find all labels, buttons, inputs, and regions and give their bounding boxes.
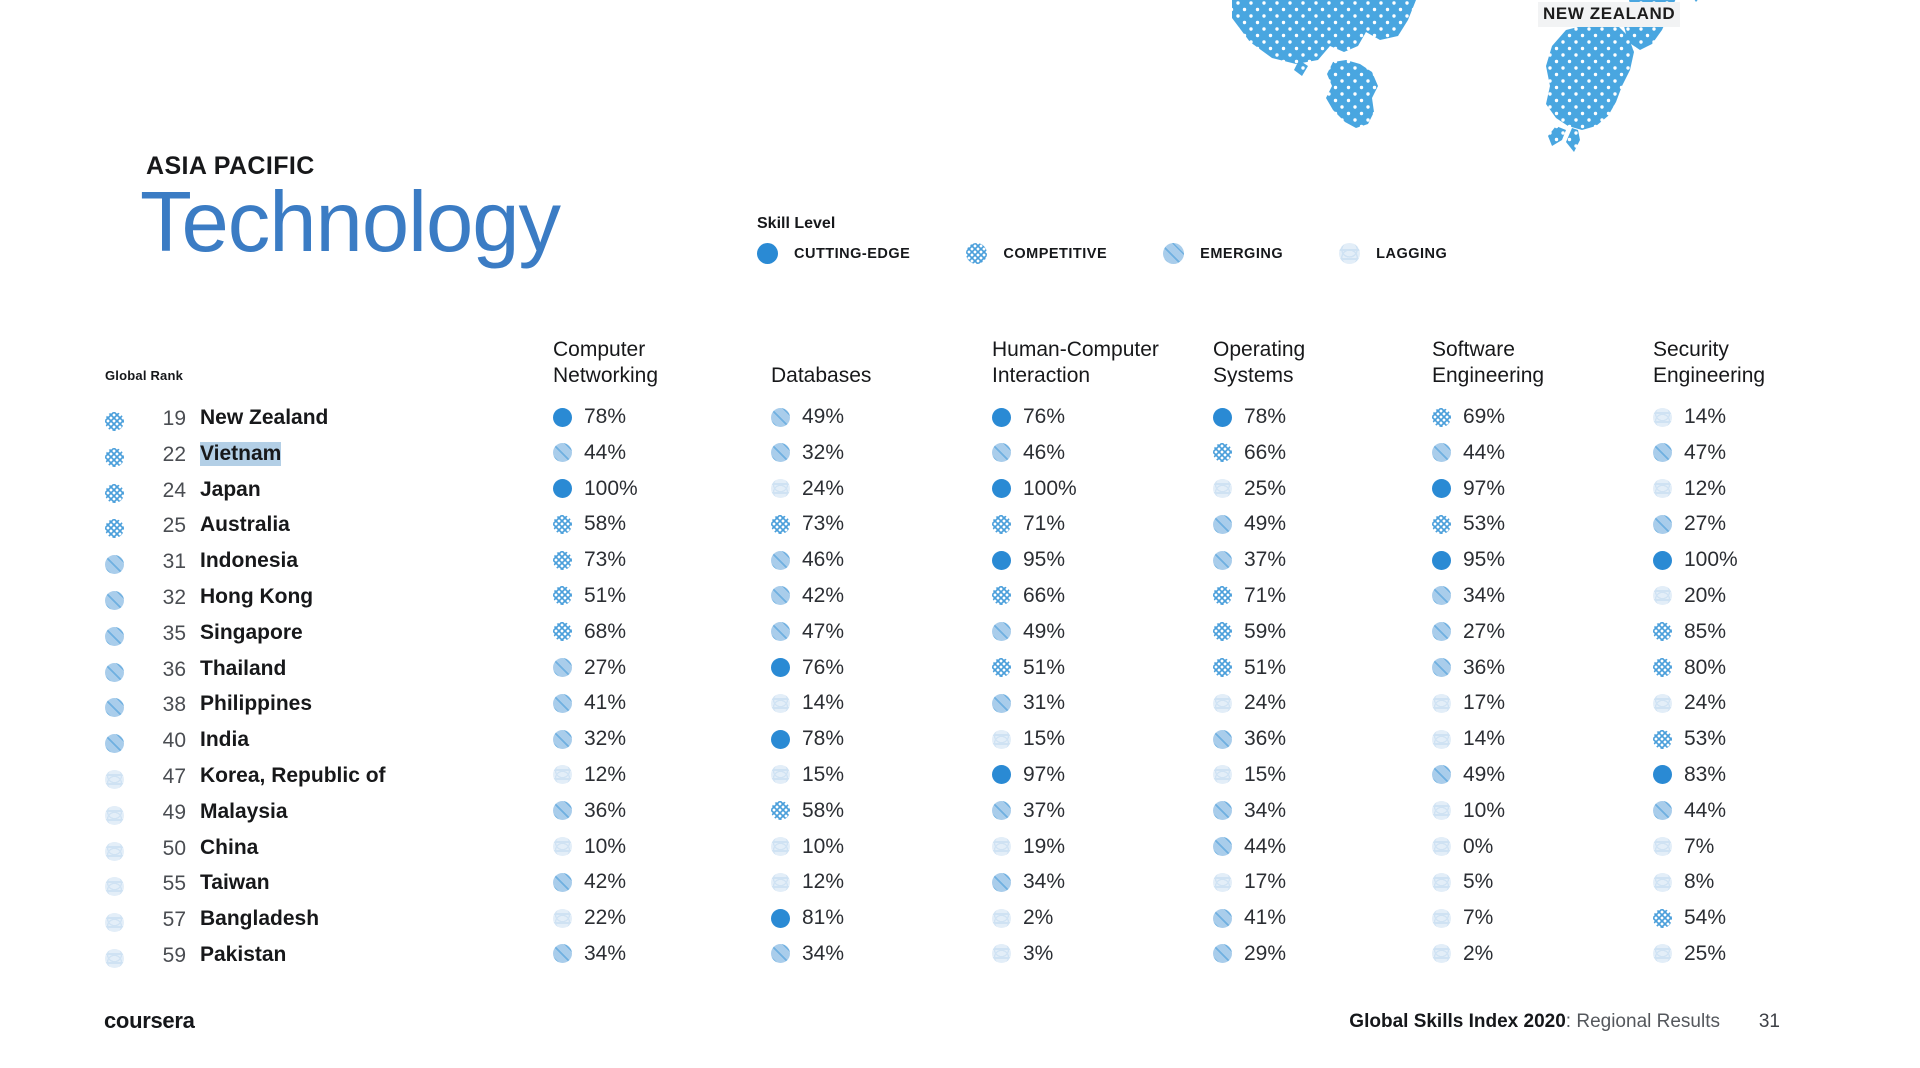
metric-value: 36%	[1463, 656, 1505, 680]
column-header-security-engineering: SecurityEngineering	[1653, 337, 1765, 389]
metric-value: 42%	[584, 870, 626, 894]
table-row[interactable]: 35Singapore68%47%49%59%27%85%	[0, 620, 1920, 656]
skill-lagging-icon	[1213, 694, 1232, 713]
metric-value: 27%	[584, 656, 626, 680]
metric-cell-computer-networking: 68%	[553, 620, 626, 644]
metric-cell-operating-systems: 66%	[1213, 441, 1286, 465]
metric-cell-databases: 81%	[771, 906, 844, 930]
metric-value: 36%	[1244, 727, 1286, 751]
skill-competitive-icon	[992, 586, 1011, 605]
metric-cell-security-engineering: 8%	[1653, 870, 1714, 894]
skill-competitive-icon	[966, 243, 987, 264]
skill-emerging-icon	[1213, 730, 1232, 749]
metric-cell-operating-systems: 44%	[1213, 835, 1286, 859]
skill-lagging-icon	[771, 694, 790, 713]
rank-skill-competitive-icon	[105, 412, 124, 431]
metric-value: 54%	[1684, 906, 1726, 930]
metric-value: 34%	[1463, 584, 1505, 608]
skill-cutting-edge-icon	[992, 765, 1011, 784]
country-name[interactable]: Japan	[200, 478, 261, 502]
metric-value: 58%	[584, 512, 626, 536]
skill-lagging-icon	[771, 837, 790, 856]
column-header-databases: Databases	[771, 363, 871, 389]
skill-lagging-icon	[992, 909, 1011, 928]
metric-cell-computer-networking: 12%	[553, 763, 626, 787]
metric-value: 78%	[802, 727, 844, 751]
skills-table: 19New Zealand78%49%76%78%69%14%22Vietnam…	[0, 405, 1920, 978]
metric-value: 25%	[1244, 477, 1286, 501]
metric-value: 24%	[802, 477, 844, 501]
metric-value: 27%	[1684, 512, 1726, 536]
table-row[interactable]: 40India32%78%15%36%14%53%	[0, 727, 1920, 763]
metric-value: 10%	[802, 835, 844, 859]
metric-cell-software-engineering: 10%	[1432, 799, 1505, 823]
rank-value: 35	[152, 622, 186, 646]
rank-skill-emerging-icon	[105, 698, 124, 717]
table-row[interactable]: 49Malaysia36%58%37%34%10%44%	[0, 799, 1920, 835]
metric-cell-human-computer-interaction: 95%	[992, 548, 1065, 572]
slide-page: NEW ZEALAND ASIA PACIFIC Technology Skil…	[0, 0, 1920, 1068]
column-header-software-engineering: SoftwareEngineering	[1432, 337, 1544, 389]
rank-skill-lagging-icon	[105, 770, 124, 789]
metric-cell-security-engineering: 44%	[1653, 799, 1726, 823]
country-name[interactable]: Korea, Republic of	[200, 764, 386, 788]
country-name[interactable]: Australia	[200, 513, 290, 537]
metric-value: 78%	[1244, 405, 1286, 429]
metric-value: 3%	[1023, 942, 1053, 966]
skill-lagging-icon	[1432, 873, 1451, 892]
metric-cell-security-engineering: 54%	[1653, 906, 1726, 930]
rank-skill-lagging-icon	[105, 842, 124, 861]
skill-emerging-icon	[553, 730, 572, 749]
metric-value: 100%	[1684, 548, 1738, 572]
skill-cutting-edge-icon	[1432, 551, 1451, 570]
country-name[interactable]: India	[200, 728, 249, 752]
metric-value: 44%	[584, 441, 626, 465]
country-name[interactable]: Hong Kong	[200, 585, 313, 609]
metric-cell-computer-networking: 27%	[553, 656, 626, 680]
nz-south-tip-shape	[1548, 126, 1566, 146]
rank-skill-emerging-icon	[105, 734, 124, 753]
rank-skill-lagging-icon	[105, 806, 124, 825]
rank-value: 49	[152, 801, 186, 825]
rank-value: 24	[152, 479, 186, 503]
table-row[interactable]: 50China10%10%19%44%0%7%	[0, 835, 1920, 871]
metric-value: 15%	[802, 763, 844, 787]
table-row[interactable]: 31Indonesia73%46%95%37%95%100%	[0, 548, 1920, 584]
skill-lagging-icon	[1653, 873, 1672, 892]
metric-value: 14%	[802, 691, 844, 715]
table-row[interactable]: 24Japan100%24%100%25%97%12%	[0, 477, 1920, 513]
metric-cell-human-computer-interaction: 66%	[992, 584, 1065, 608]
skill-level-legend: Skill Level CUTTING-EDGE COMPETITIVE EME…	[757, 215, 1503, 264]
metric-value: 20%	[1684, 584, 1726, 608]
metric-cell-security-engineering: 53%	[1653, 727, 1726, 751]
metric-cell-operating-systems: 41%	[1213, 906, 1286, 930]
rank-skill-lagging-icon	[105, 949, 124, 968]
metric-cell-computer-networking: 73%	[553, 548, 626, 572]
skill-cutting-edge-icon	[757, 243, 778, 264]
skill-lagging-icon	[1432, 909, 1451, 928]
country-name[interactable]: New Zealand	[200, 406, 328, 430]
metric-value: 0%	[1463, 835, 1493, 859]
skill-competitive-icon	[1653, 622, 1672, 641]
metric-value: 49%	[1244, 512, 1286, 536]
skill-competitive-icon	[992, 515, 1011, 534]
skill-lagging-icon	[1432, 694, 1451, 713]
metric-value: 7%	[1463, 906, 1493, 930]
metric-cell-human-computer-interaction: 49%	[992, 620, 1065, 644]
skill-emerging-icon	[1213, 801, 1232, 820]
metric-value: 24%	[1684, 691, 1726, 715]
table-row[interactable]: 57Bangladesh22%81%2%41%7%54%	[0, 906, 1920, 942]
metric-value: 49%	[802, 405, 844, 429]
skill-competitive-icon	[771, 515, 790, 534]
skill-cutting-edge-icon	[1432, 479, 1451, 498]
skill-competitive-icon	[553, 515, 572, 534]
metric-value: 59%	[1244, 620, 1286, 644]
skill-emerging-icon	[553, 873, 572, 892]
skill-competitive-icon	[1213, 586, 1232, 605]
metric-cell-operating-systems: 37%	[1213, 548, 1286, 572]
metric-value: 27%	[1463, 620, 1505, 644]
metric-cell-databases: 47%	[771, 620, 844, 644]
metric-cell-computer-networking: 22%	[553, 906, 626, 930]
metric-value: 34%	[802, 942, 844, 966]
skill-emerging-icon	[1653, 515, 1672, 534]
metric-cell-operating-systems: 17%	[1213, 870, 1286, 894]
skill-emerging-icon	[771, 944, 790, 963]
metric-cell-human-computer-interaction: 34%	[992, 870, 1065, 894]
metric-value: 51%	[1023, 656, 1065, 680]
metric-cell-software-engineering: 0%	[1432, 835, 1493, 859]
metric-value: 46%	[1023, 441, 1065, 465]
skill-lagging-icon	[1213, 765, 1232, 784]
table-row[interactable]: 47Korea, Republic of12%15%97%15%49%83%	[0, 763, 1920, 799]
skill-lagging-icon	[1432, 837, 1451, 856]
metric-value: 68%	[584, 620, 626, 644]
rank-value: 31	[152, 550, 186, 574]
metric-cell-human-computer-interaction: 97%	[992, 763, 1065, 787]
skill-cutting-edge-icon	[992, 408, 1011, 427]
skill-emerging-icon	[992, 622, 1011, 641]
metric-cell-software-engineering: 7%	[1432, 906, 1493, 930]
metric-cell-human-computer-interaction: 71%	[992, 512, 1065, 536]
skill-emerging-icon	[1432, 658, 1451, 677]
metric-value: 42%	[802, 584, 844, 608]
metric-value: 14%	[1463, 727, 1505, 751]
metric-cell-computer-networking: 51%	[553, 584, 626, 608]
metric-cell-operating-systems: 71%	[1213, 584, 1286, 608]
metric-cell-databases: 32%	[771, 441, 844, 465]
metric-cell-computer-networking: 100%	[553, 477, 638, 501]
nz-tail-shape	[1566, 128, 1580, 152]
skill-cutting-edge-icon	[553, 408, 572, 427]
metric-cell-software-engineering: 27%	[1432, 620, 1505, 644]
metric-value: 34%	[1244, 799, 1286, 823]
nz-main-shape	[1546, 22, 1634, 130]
skill-emerging-icon	[1432, 622, 1451, 641]
legend-item-emerging: EMERGING	[1163, 243, 1283, 264]
australia-shape	[1232, 0, 1420, 64]
metric-cell-operating-systems: 24%	[1213, 691, 1286, 715]
skill-lagging-icon	[1432, 730, 1451, 749]
metric-value: 10%	[1463, 799, 1505, 823]
metric-cell-software-engineering: 44%	[1432, 441, 1505, 465]
skill-lagging-icon	[1339, 243, 1360, 264]
skill-competitive-icon	[553, 622, 572, 641]
report-caption: Global Skills Index 2020: Regional Resul…	[1349, 1011, 1720, 1033]
metric-value: 17%	[1463, 691, 1505, 715]
metric-cell-databases: 15%	[771, 763, 844, 787]
metric-value: 8%	[1684, 870, 1714, 894]
metric-cell-security-engineering: 27%	[1653, 512, 1726, 536]
metric-value: 44%	[1463, 441, 1505, 465]
metric-cell-databases: 12%	[771, 870, 844, 894]
metric-value: 15%	[1023, 727, 1065, 751]
metric-cell-operating-systems: 34%	[1213, 799, 1286, 823]
skill-competitive-icon	[1432, 408, 1451, 427]
table-row[interactable]: 25Australia58%73%71%49%53%27%	[0, 512, 1920, 548]
skill-emerging-icon	[1432, 586, 1451, 605]
page-number: 31	[1759, 1011, 1780, 1033]
rank-skill-competitive-icon	[105, 484, 124, 503]
skill-lagging-icon	[1213, 479, 1232, 498]
metric-value: 36%	[584, 799, 626, 823]
skill-lagging-icon	[1653, 837, 1672, 856]
skill-emerging-icon	[1653, 443, 1672, 462]
page-title: Technology	[140, 178, 560, 267]
country-name[interactable]: China	[200, 836, 258, 860]
metric-value: 69%	[1463, 405, 1505, 429]
metric-cell-databases: 49%	[771, 405, 844, 429]
metric-cell-security-engineering: 12%	[1653, 477, 1726, 501]
page-footer: coursera Global Skills Index 2020: Regio…	[0, 978, 1920, 1068]
skill-emerging-icon	[1432, 765, 1451, 784]
metric-cell-security-engineering: 20%	[1653, 584, 1726, 608]
skill-lagging-icon	[771, 765, 790, 784]
skill-emerging-icon	[771, 443, 790, 462]
table-row[interactable]: 36Thailand27%76%51%51%36%80%	[0, 656, 1920, 692]
metric-cell-security-engineering: 85%	[1653, 620, 1726, 644]
rank-value: 40	[152, 729, 186, 753]
table-row[interactable]: 19New Zealand78%49%76%78%69%14%	[0, 405, 1920, 441]
skill-emerging-icon	[992, 801, 1011, 820]
rank-skill-emerging-icon	[105, 663, 124, 682]
country-name[interactable]: Philippines	[200, 692, 312, 716]
metric-cell-security-engineering: 47%	[1653, 441, 1726, 465]
skill-cutting-edge-icon	[1653, 551, 1672, 570]
metric-cell-security-engineering: 80%	[1653, 656, 1726, 680]
skill-cutting-edge-icon	[992, 551, 1011, 570]
skill-competitive-icon	[1213, 622, 1232, 641]
metric-value: 34%	[1023, 870, 1065, 894]
skill-emerging-icon	[1653, 801, 1672, 820]
metric-cell-software-engineering: 95%	[1432, 548, 1505, 572]
metric-value: 29%	[1244, 942, 1286, 966]
metric-cell-software-engineering: 97%	[1432, 477, 1505, 501]
metric-value: 17%	[1244, 870, 1286, 894]
metric-value: 51%	[584, 584, 626, 608]
metric-value: 32%	[584, 727, 626, 751]
metric-cell-databases: 76%	[771, 656, 844, 680]
country-name[interactable]: Vietnam	[200, 442, 281, 466]
metric-value: 14%	[1684, 405, 1726, 429]
skill-competitive-icon	[992, 658, 1011, 677]
legend-label: LAGGING	[1376, 246, 1447, 262]
metric-cell-human-computer-interaction: 3%	[992, 942, 1053, 966]
metric-cell-databases: 58%	[771, 799, 844, 823]
metric-value: 97%	[1023, 763, 1065, 787]
country-name[interactable]: Bangladesh	[200, 907, 319, 931]
skill-emerging-icon	[992, 443, 1011, 462]
metric-value: 47%	[802, 620, 844, 644]
country-name[interactable]: Taiwan	[200, 871, 270, 895]
skill-emerging-icon	[1213, 944, 1232, 963]
skill-competitive-icon	[553, 551, 572, 570]
skill-emerging-icon	[553, 694, 572, 713]
skill-emerging-icon	[1163, 243, 1184, 264]
metric-cell-software-engineering: 34%	[1432, 584, 1505, 608]
metric-cell-security-engineering: 100%	[1653, 548, 1738, 572]
metric-cell-databases: 10%	[771, 835, 844, 859]
metric-cell-operating-systems: 29%	[1213, 942, 1286, 966]
skill-emerging-icon	[1213, 551, 1232, 570]
metric-value: 12%	[802, 870, 844, 894]
metric-value: 71%	[1023, 512, 1065, 536]
table-row[interactable]: 55Taiwan42%12%34%17%5%8%	[0, 870, 1920, 906]
skill-emerging-icon	[1432, 443, 1451, 462]
skill-competitive-icon	[1653, 658, 1672, 677]
skill-lagging-icon	[1653, 479, 1672, 498]
metric-cell-computer-networking: 32%	[553, 727, 626, 751]
table-row[interactable]: 22Vietnam44%32%46%66%44%47%	[0, 441, 1920, 477]
metric-cell-software-engineering: 5%	[1432, 870, 1493, 894]
metric-cell-security-engineering: 24%	[1653, 691, 1726, 715]
metric-cell-software-engineering: 53%	[1432, 512, 1505, 536]
tasmania-shape	[1326, 60, 1378, 128]
metric-value: 5%	[1463, 870, 1493, 894]
metric-value: 34%	[584, 942, 626, 966]
metric-cell-computer-networking: 78%	[553, 405, 626, 429]
skill-emerging-icon	[553, 944, 572, 963]
country-name[interactable]: Singapore	[200, 621, 303, 645]
country-name[interactable]: Indonesia	[200, 549, 298, 573]
report-subtitle: Regional Results	[1576, 1011, 1720, 1032]
metric-cell-human-computer-interaction: 37%	[992, 799, 1065, 823]
metric-value: 80%	[1684, 656, 1726, 680]
skill-lagging-icon	[992, 730, 1011, 749]
rank-skill-competitive-icon	[105, 519, 124, 538]
table-row[interactable]: 32Hong Kong51%42%66%71%34%20%	[0, 584, 1920, 620]
rank-value: 59	[152, 944, 186, 968]
metric-cell-operating-systems: 78%	[1213, 405, 1286, 429]
metric-cell-databases: 46%	[771, 548, 844, 572]
skill-lagging-icon	[1653, 694, 1672, 713]
metric-cell-security-engineering: 14%	[1653, 405, 1726, 429]
metric-value: 100%	[584, 477, 638, 501]
metric-value: 25%	[1684, 942, 1726, 966]
country-name[interactable]: Thailand	[200, 657, 286, 681]
region-map: NEW ZEALAND	[0, 0, 1920, 165]
country-name[interactable]: Pakistan	[200, 943, 286, 967]
metric-cell-security-engineering: 83%	[1653, 763, 1726, 787]
legend-item-lagging: LAGGING	[1339, 243, 1447, 264]
metric-value: 44%	[1244, 835, 1286, 859]
legend-label: COMPETITIVE	[1003, 246, 1107, 262]
metric-cell-databases: 78%	[771, 727, 844, 751]
metric-value: 58%	[802, 799, 844, 823]
metric-cell-computer-networking: 42%	[553, 870, 626, 894]
legend-items: CUTTING-EDGE COMPETITIVE EMERGING LAGGIN…	[757, 243, 1503, 264]
skill-emerging-icon	[553, 443, 572, 462]
skill-emerging-icon	[771, 408, 790, 427]
rank-value: 25	[152, 514, 186, 538]
skill-emerging-icon	[1213, 909, 1232, 928]
rank-value: 22	[152, 443, 186, 467]
metric-cell-security-engineering: 25%	[1653, 942, 1726, 966]
rank-value: 36	[152, 658, 186, 682]
metric-value: 12%	[584, 763, 626, 787]
legend-label: EMERGING	[1200, 246, 1283, 262]
metric-value: 49%	[1023, 620, 1065, 644]
metric-cell-human-computer-interaction: 100%	[992, 477, 1077, 501]
metric-value: 10%	[584, 835, 626, 859]
skill-cutting-edge-icon	[1213, 408, 1232, 427]
skill-cutting-edge-icon	[1653, 765, 1672, 784]
skill-cutting-edge-icon	[771, 730, 790, 749]
skill-lagging-icon	[1653, 944, 1672, 963]
metric-cell-software-engineering: 2%	[1432, 942, 1493, 966]
skill-emerging-icon	[771, 551, 790, 570]
metric-cell-operating-systems: 15%	[1213, 763, 1286, 787]
skill-emerging-icon	[771, 586, 790, 605]
column-header-operating-systems: OperatingSystems	[1213, 337, 1305, 389]
skill-competitive-icon	[771, 801, 790, 820]
rank-value: 38	[152, 693, 186, 717]
metric-value: 46%	[802, 548, 844, 572]
metric-cell-software-engineering: 17%	[1432, 691, 1505, 715]
skill-lagging-icon	[771, 479, 790, 498]
rank-value: 19	[152, 407, 186, 431]
metric-cell-computer-networking: 58%	[553, 512, 626, 536]
legend-item-cutting-edge: CUTTING-EDGE	[757, 243, 910, 264]
rank-skill-lagging-icon	[105, 913, 124, 932]
skill-emerging-icon	[992, 873, 1011, 892]
metric-value: 2%	[1023, 906, 1053, 930]
rank-value: 50	[152, 837, 186, 861]
rank-skill-emerging-icon	[105, 555, 124, 574]
skill-lagging-icon	[1653, 586, 1672, 605]
metric-cell-computer-networking: 10%	[553, 835, 626, 859]
metric-value: 76%	[802, 656, 844, 680]
skill-competitive-icon	[1653, 909, 1672, 928]
metric-cell-computer-networking: 34%	[553, 942, 626, 966]
metric-value: 53%	[1463, 512, 1505, 536]
table-row[interactable]: 38Philippines41%14%31%24%17%24%	[0, 691, 1920, 727]
table-row[interactable]: 59Pakistan34%34%3%29%2%25%	[0, 942, 1920, 978]
skill-emerging-icon	[553, 801, 572, 820]
skill-lagging-icon	[1213, 873, 1232, 892]
metric-value: 81%	[802, 906, 844, 930]
metric-cell-operating-systems: 59%	[1213, 620, 1286, 644]
metric-cell-operating-systems: 49%	[1213, 512, 1286, 536]
country-name[interactable]: Malaysia	[200, 800, 288, 824]
metric-value: 22%	[584, 906, 626, 930]
metric-value: 51%	[1244, 656, 1286, 680]
report-title: Global Skills Index 2020	[1349, 1011, 1566, 1032]
rank-skill-competitive-icon	[105, 448, 124, 467]
